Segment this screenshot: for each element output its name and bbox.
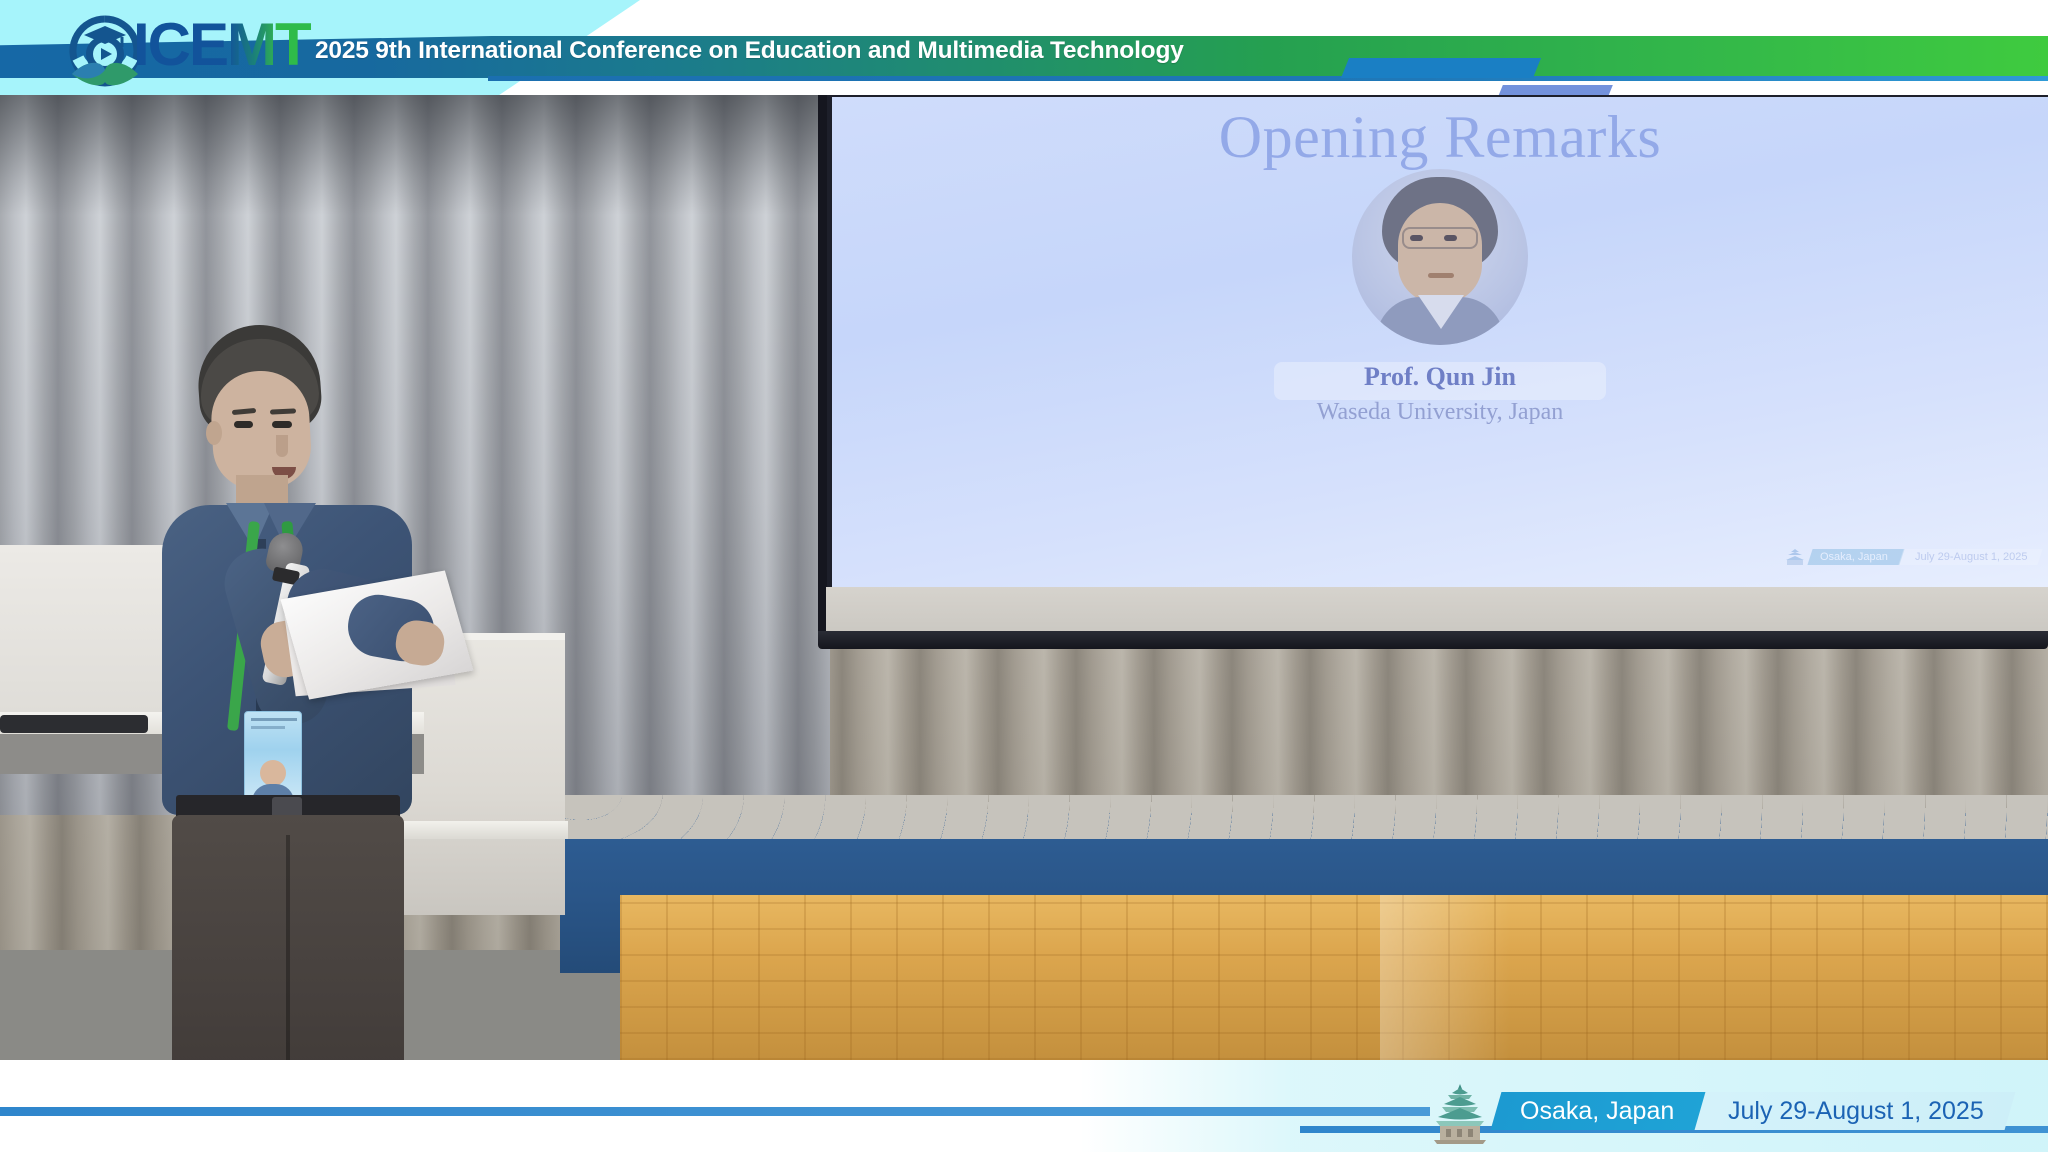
conference-slide-page: ICEMT 2025 9th International Conference … xyxy=(0,0,2048,1152)
chair-backrest xyxy=(0,715,148,733)
header-blue-rule xyxy=(488,76,2048,81)
slide-footer-date: July 29-August 1, 2025 xyxy=(1899,549,2043,565)
speaker-nose xyxy=(276,435,288,457)
logo-text-t: T xyxy=(275,11,310,78)
curtain-scalloped-hem xyxy=(560,795,2048,839)
badge-text-line-1 xyxy=(251,718,297,721)
conference-photo: Opening Remarks Prof. Qun Jin Waseda Uni… xyxy=(0,95,2048,1060)
portrait-face xyxy=(1398,203,1482,303)
stage-wood-floor xyxy=(620,895,2048,1060)
floor-highlight xyxy=(1380,895,1510,1060)
screen-roller-bar xyxy=(818,631,2048,649)
speaker-eye-right xyxy=(272,421,292,428)
logo-text-ice: ICE xyxy=(133,11,227,78)
speaker-figure xyxy=(140,325,460,955)
curtain-top-shadow xyxy=(0,95,830,215)
speaker-face xyxy=(209,369,313,492)
slide-speaker-portrait xyxy=(1352,169,1528,345)
projection-screen: Opening Remarks Prof. Qun Jin Waseda Uni… xyxy=(832,97,2048,587)
badge-text-line-2 xyxy=(251,726,285,729)
slide-speaker-name: Prof. Qun Jin xyxy=(832,362,2048,392)
portrait-mouth xyxy=(1428,273,1454,278)
footer-blue-rule xyxy=(0,1107,1430,1116)
trouser-seam xyxy=(286,835,290,1060)
speaker-ear xyxy=(206,421,222,445)
speaker-eye-left xyxy=(234,421,253,428)
slide-osaka-castle-icon xyxy=(1784,548,1806,566)
speaker-badge xyxy=(244,711,302,807)
screen-lower-band xyxy=(826,587,2048,633)
conference-title: 2025 9th International Conference on Edu… xyxy=(315,30,1184,72)
slide-speaker-affiliation: Waseda University, Japan xyxy=(832,399,2048,426)
header-blue-accent xyxy=(1341,58,1541,78)
portrait-eye-right xyxy=(1444,235,1457,241)
osaka-castle-icon xyxy=(1432,1082,1488,1144)
footer-city: Osaka, Japan xyxy=(1491,1092,1710,1130)
footer-date: July 29-August 1, 2025 xyxy=(1695,1092,2016,1130)
badge-photo-head xyxy=(260,760,286,786)
logo-text-m: M xyxy=(227,11,275,78)
icemt-wordmark: ICEMT xyxy=(133,12,310,78)
portrait-eye-left xyxy=(1410,235,1423,241)
page-header: ICEMT 2025 9th International Conference … xyxy=(0,0,2048,95)
slide-footer-city: Osaka, Japan xyxy=(1807,549,1904,565)
slide-footer: Osaka, Japan July 29-August 1, 2025 xyxy=(1784,547,2040,567)
slide-title: Opening Remarks xyxy=(832,103,2048,172)
